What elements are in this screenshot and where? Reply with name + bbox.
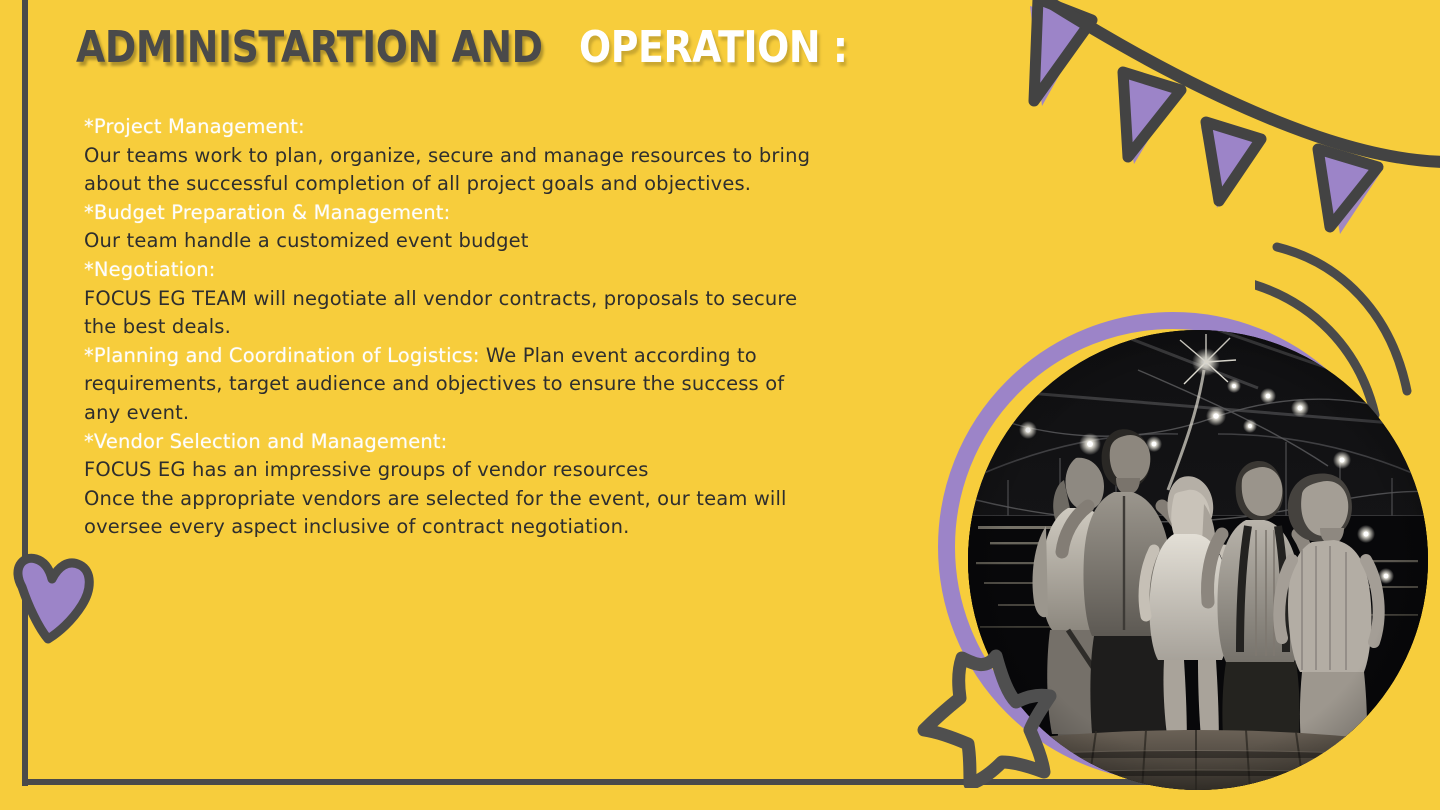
body-line-tail: We Plan event according to [480, 344, 757, 367]
body-line: FOCUS EG TEAM will negotiate all vendor … [84, 285, 914, 314]
body-line: any event. [84, 399, 914, 428]
bunting-pennants-icon [988, 0, 1440, 264]
section-heading-inline: *Planning and Coordination of Logistics: [84, 344, 480, 367]
heart-outline-icon [2, 545, 97, 645]
section-heading: *Vendor Selection and Management: [84, 428, 914, 457]
section-heading: *Negotiation: [84, 256, 914, 285]
body-line: the best deals. [84, 313, 914, 342]
body-line: about the successful completion of all p… [84, 170, 914, 199]
slide-canvas: ADMINISTARTION ANDOPERATION : *Project M… [0, 0, 1440, 810]
body-line: oversee every aspect inclusive of contra… [84, 513, 914, 542]
body-line-mixed: *Planning and Coordination of Logistics:… [84, 342, 914, 371]
title-part-white: OPERATION : [579, 26, 848, 70]
section-heading: *Project Management: [84, 113, 914, 142]
star-outline-icon [912, 648, 1057, 788]
body-line: requirements, target audience and object… [84, 370, 914, 399]
body-line: Our team handle a customized event budge… [84, 227, 914, 256]
page-title: ADMINISTARTION ANDOPERATION : [76, 26, 891, 70]
title-part-dark: ADMINISTARTION AND [76, 26, 543, 70]
body-line: FOCUS EG has an impressive groups of ven… [84, 456, 914, 485]
section-heading: *Budget Preparation & Management: [84, 199, 914, 228]
body-line: Our teams work to plan, organize, secure… [84, 142, 914, 171]
frame-border-left [22, 0, 28, 786]
body-text-block: *Project Management: Our teams work to p… [84, 113, 914, 542]
body-line: Once the appropriate vendors are selecte… [84, 485, 914, 514]
